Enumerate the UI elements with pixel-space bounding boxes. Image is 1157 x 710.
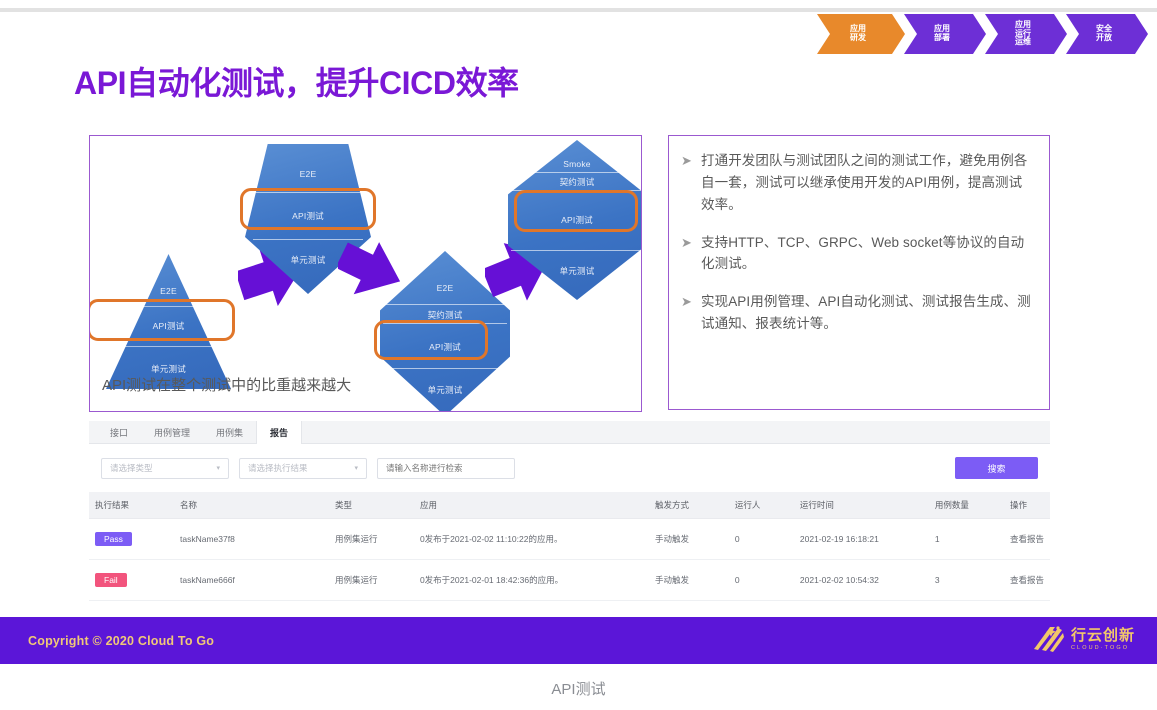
app-screenshot: 接口 用例管理 用例集 报告 请选择类型 ▾ 请选择执行结果 ▾ 搜索 执行结果… (89, 421, 1050, 602)
diamond2-label-smoke: Smoke (508, 159, 642, 169)
cell-name: taskName37f8 (174, 519, 329, 560)
cell-application: 0发布于2021-02-01 18:42:36的应用。 (414, 560, 649, 601)
brand-name-en: CLOUD·TOGO (1071, 646, 1135, 652)
name-search-input[interactable] (377, 458, 515, 479)
highlight-box-diamond1 (374, 320, 488, 360)
diamond2-label-unit: 单元测试 (508, 265, 642, 277)
type-select[interactable]: 请选择类型 ▾ (101, 458, 229, 479)
diagram-panel: E2E API测试 单元测试 E2E API测试 单元测试 E2E 契约测试 (89, 135, 642, 412)
cell-run-time: 2021-02-19 16:18:21 (794, 519, 929, 560)
status-badge: Fail (95, 573, 127, 587)
cell-type: 用例集运行 (329, 560, 414, 601)
tab-report[interactable]: 报告 (256, 421, 302, 444)
highlight-box-pyramid1 (89, 299, 235, 341)
search-button[interactable]: 搜索 (955, 457, 1038, 479)
slide-caption: API测试 (0, 678, 1157, 699)
cell-case-count: 3 (929, 560, 1004, 601)
cell-result: Pass (89, 519, 174, 560)
chevron-step-4-line-2: 开放 (1096, 34, 1112, 43)
bullet-text-2: 支持HTTP、TCP、GRPC、Web socket等协议的自动化测试。 (701, 232, 1033, 276)
diagram-caption: API测试在整个测试中的比重越来越大 (102, 374, 351, 395)
chevron-step-4[interactable]: 安全开放 (1066, 14, 1148, 54)
cell-type: 用例集运行 (329, 519, 414, 560)
bullet-item-3: ➤ 实现API用例管理、API自动化测试、测试报告生成、测试通知、报表统计等。 (681, 291, 1033, 335)
cell-run-time: 2021-02-02 10:54:32 (794, 560, 929, 601)
table-row[interactable]: Pass taskName37f8 用例集运行 0发布于2021-02-02 1… (89, 519, 1050, 560)
copyright-text: Copyright © 2020 Cloud To Go (28, 634, 214, 648)
cell-trigger: 手动触发 (649, 519, 729, 560)
pentagon-label-e2e: E2E (245, 169, 371, 179)
pyramid1-label-e2e: E2E (106, 286, 231, 296)
col-trigger: 触发方式 (649, 492, 729, 519)
col-case-count: 用例数量 (929, 492, 1004, 519)
filter-bar: 请选择类型 ▾ 请选择执行结果 ▾ 搜索 (89, 444, 1050, 492)
tab-case-management[interactable]: 用例管理 (141, 421, 203, 443)
brand-logo: 行云创新 CLOUD·TOGO (1031, 625, 1135, 655)
cell-trigger: 手动触发 (649, 560, 729, 601)
bullet-item-2: ➤ 支持HTTP、TCP、GRPC、Web socket等协议的自动化测试。 (681, 232, 1033, 276)
bullet-text-1: 打通开发团队与测试团队之间的测试工作，避免用例各自一套，测试可以继承使用开发的A… (701, 150, 1033, 216)
bullet-item-1: ➤ 打通开发团队与测试团队之间的测试工作，避免用例各自一套，测试可以继承使用开发… (681, 150, 1033, 216)
col-action: 操作 (1004, 492, 1050, 519)
status-badge: Pass (95, 532, 132, 546)
cell-name: taskName666f (174, 560, 329, 601)
col-application: 应用 (414, 492, 649, 519)
process-chevron-nav: 应用研发 应用部署 应用运行运维 安全开放 (817, 14, 1147, 54)
chevron-down-icon: ▾ (354, 464, 358, 472)
bullet-panel: ➤ 打通开发团队与测试团队之间的测试工作，避免用例各自一套，测试可以继承使用开发… (668, 135, 1050, 410)
col-result: 执行结果 (89, 492, 174, 519)
diamond1-label-unit: 单元测试 (380, 384, 510, 396)
chevron-step-3-line-3: 运维 (1015, 38, 1031, 47)
swoosh-icon (1031, 625, 1065, 655)
view-report-link[interactable]: 查看报告 (1004, 560, 1050, 601)
result-select[interactable]: 请选择执行结果 ▾ (239, 458, 367, 479)
bullet-text-3: 实现API用例管理、API自动化测试、测试报告生成、测试通知、报表统计等。 (701, 291, 1033, 335)
highlight-box-diamond2 (514, 190, 638, 232)
cell-case-count: 1 (929, 519, 1004, 560)
footer-bar: Copyright © 2020 Cloud To Go 行云创新 CLOUD·… (0, 617, 1157, 664)
chevron-step-2[interactable]: 应用部署 (904, 14, 986, 54)
arrow-down-right-3 (338, 241, 402, 304)
cell-result: Fail (89, 560, 174, 601)
chevron-step-1[interactable]: 应用研发 (817, 14, 905, 54)
tab-interface[interactable]: 接口 (97, 421, 141, 443)
col-name: 名称 (174, 492, 329, 519)
app-tabbar: 接口 用例管理 用例集 报告 (89, 421, 1050, 444)
brand-name-cn: 行云创新 (1071, 628, 1135, 643)
table-header-row: 执行结果 名称 类型 应用 触发方式 运行人 运行时间 用例数量 操作 (89, 492, 1050, 519)
page-title: API自动化测试，提升CICD效率 (74, 58, 519, 104)
col-operator: 运行人 (729, 492, 794, 519)
chevron-down-icon: ▾ (216, 464, 220, 472)
highlight-box-pentagon (240, 188, 376, 230)
col-run-time: 运行时间 (794, 492, 929, 519)
view-report-link[interactable]: 查看报告 (1004, 519, 1050, 560)
slide-root: 应用研发 应用部署 应用运行运维 安全开放 API自动化测试，提升CICD效率 … (0, 0, 1157, 710)
table-row[interactable]: Fail taskName666f 用例集运行 0发布于2021-02-01 1… (89, 560, 1050, 601)
report-table: 执行结果 名称 类型 应用 触发方式 运行人 运行时间 用例数量 操作 Pass… (89, 492, 1050, 601)
chevron-step-3[interactable]: 应用运行运维 (985, 14, 1067, 54)
chevron-step-1-line-2: 研发 (850, 34, 866, 43)
bullet-marker-icon: ➤ (681, 232, 701, 276)
cell-application: 0发布于2021-02-02 11:10:22的应用。 (414, 519, 649, 560)
bullet-marker-icon: ➤ (681, 150, 701, 216)
diamond2-label-contract: 契约测试 (508, 176, 642, 188)
bullet-marker-icon: ➤ (681, 291, 701, 335)
type-select-value: 请选择类型 (110, 462, 153, 474)
col-type: 类型 (329, 492, 414, 519)
result-select-value: 请选择执行结果 (248, 462, 308, 474)
tab-case-set[interactable]: 用例集 (203, 421, 256, 443)
chevron-step-2-line-2: 部署 (934, 34, 950, 43)
cell-operator: 0 (729, 519, 794, 560)
top-divider (0, 8, 1157, 12)
cell-operator: 0 (729, 560, 794, 601)
